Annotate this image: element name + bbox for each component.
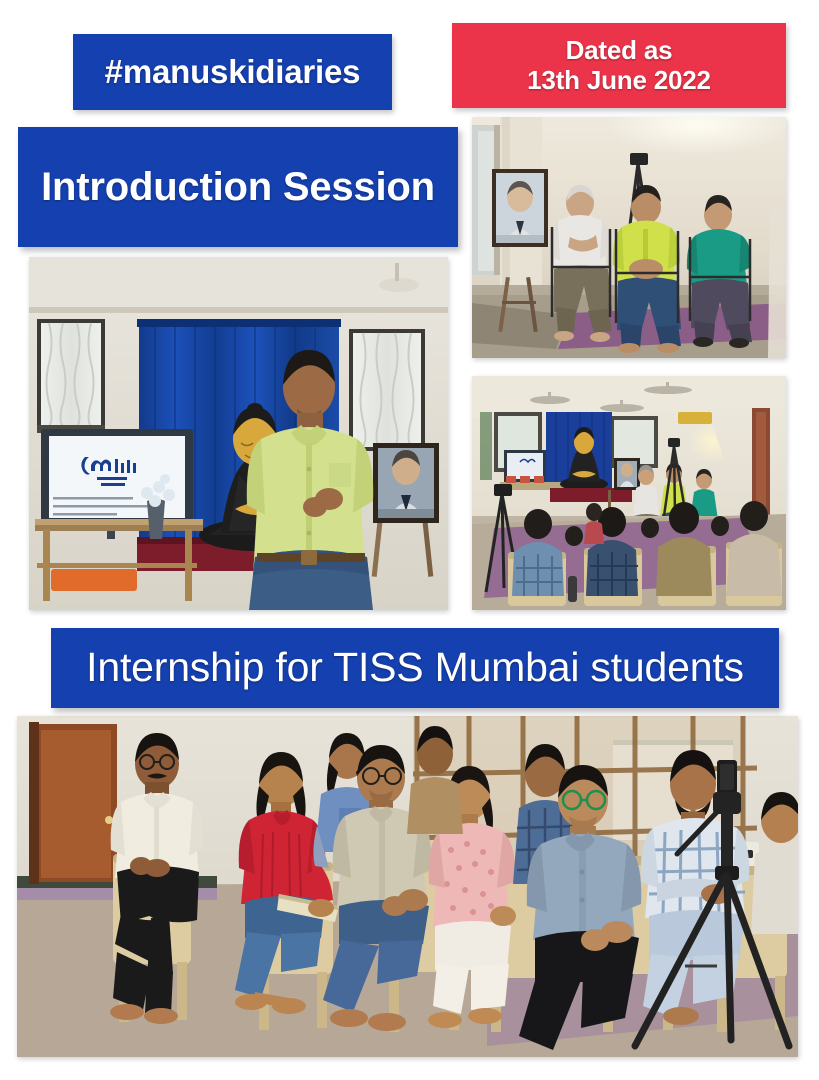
date-banner: Dated as 13th June 2022	[452, 23, 786, 108]
date-line-1: Dated as	[566, 35, 673, 65]
session-room-wide-photo: Wide view of the hall with an audience s…	[472, 376, 786, 610]
page-title: Introduction Session	[41, 165, 435, 210]
page-subtitle: Internship for TISS Mumbai students	[86, 645, 744, 691]
speaker-presentation-illustration	[29, 257, 448, 610]
date-line-2: 13th June 2022	[527, 65, 711, 95]
date-text: Dated as 13th June 2022	[527, 36, 711, 94]
title-banner: Introduction Session	[18, 127, 458, 247]
students-audience-illustration	[17, 716, 798, 1057]
hashtag-banner: #manuskidiaries	[73, 34, 392, 110]
session-room-illustration	[472, 376, 786, 610]
students-audience-photo: Row of students and staff seated on crea…	[17, 716, 798, 1057]
panel-speakers-illustration	[472, 117, 786, 358]
hashtag-text: #manuskidiaries	[105, 54, 361, 91]
panel-speakers-photo: Three men seated on chairs in front of a…	[472, 117, 786, 358]
speaker-presentation-photo: Man in a light green shirt speaking in a…	[29, 257, 448, 610]
poster-canvas: Three men seated on chairs in front of a…	[0, 0, 819, 1080]
subtitle-banner: Internship for TISS Mumbai students	[51, 628, 779, 708]
